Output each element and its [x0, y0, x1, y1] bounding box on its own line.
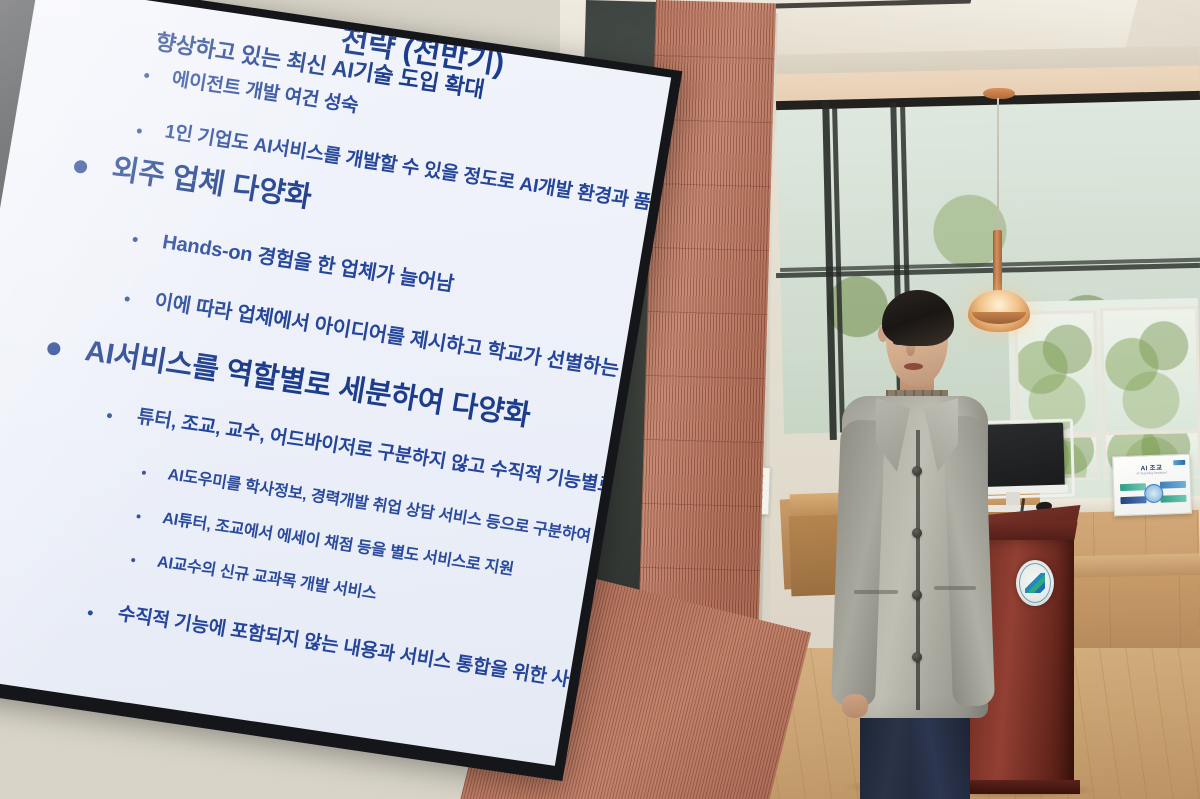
hand — [842, 694, 868, 718]
bullet-round — [73, 159, 88, 174]
slide-line-11: AI교수의 신규 교과목 개발 서비스 — [156, 548, 379, 604]
bullet-dot — [124, 296, 130, 302]
pendant-stem — [993, 230, 1002, 298]
bullet-dot — [107, 413, 113, 419]
university-crest-icon — [1016, 560, 1054, 606]
pendant-ceiling-mount — [983, 88, 1015, 99]
jacket-pocket — [934, 586, 976, 590]
mouth — [904, 363, 923, 370]
bullet-dot — [87, 610, 93, 616]
trouser-leg — [860, 704, 916, 799]
bullet-dot — [142, 470, 147, 475]
bullet-dot — [136, 514, 141, 519]
bullet-dot — [131, 558, 136, 563]
screen-surface: 전략 (전반기) 향상하고 있는 최신 AI기술 도입 확대 에이전트 개발 여… — [0, 0, 671, 766]
jacket-pocket — [854, 590, 898, 594]
bullet-dot — [132, 237, 138, 243]
trouser-leg — [912, 704, 970, 799]
projection-screen: 전략 (전반기) 향상하고 있는 최신 AI기술 도입 확대 에이전트 개발 여… — [0, 0, 682, 781]
hair — [882, 290, 954, 346]
slide-content: 전략 (전반기) 향상하고 있는 최신 AI기술 도입 확대 에이전트 개발 여… — [0, 0, 665, 765]
bullet-dot — [144, 73, 150, 79]
slide-line-5: Hands-on 경험을 한 업체가 늘어남 — [161, 225, 457, 297]
presenter — [820, 290, 980, 799]
ai-assistant-placard: AI 조교 AI Teaching Assistant — [1112, 454, 1192, 517]
photo-scene: 전략 (전반기) 향상하고 있는 최신 AI기술 도입 확대 에이전트 개발 여… — [0, 0, 1200, 799]
bullet-dot — [136, 128, 142, 134]
bullet-round — [46, 341, 61, 356]
